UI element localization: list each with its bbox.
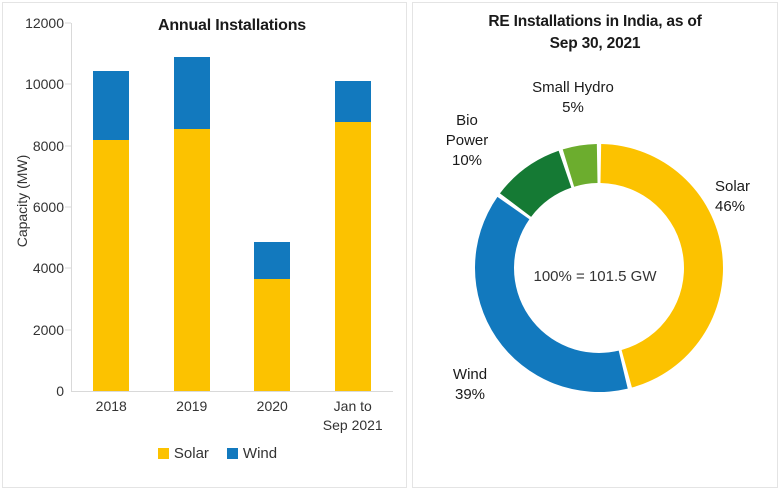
donut-label-bio-power: Bio Power 10%: [421, 111, 513, 171]
donut-slice-wind[interactable]: [475, 197, 628, 392]
bar-stack[interactable]: [335, 81, 371, 391]
x-tick-label-line: 2019: [146, 397, 238, 416]
donut-slice-solar[interactable]: [600, 144, 723, 388]
y-tick-mark: [65, 84, 71, 85]
x-tick-label-line: 2018: [65, 397, 157, 416]
legend-swatch-wind: [227, 448, 238, 459]
donut-chart-panel: RE Installations in India, as of Sep 30,…: [412, 2, 778, 488]
y-tick-label: 6000: [33, 199, 64, 215]
legend-swatch-solar: [158, 448, 169, 459]
bar-segment-wind[interactable]: [174, 57, 210, 129]
y-tick-label: 4000: [33, 260, 64, 276]
donut-label-wind: Wind 39%: [429, 365, 511, 405]
x-tick-label: 2019: [146, 397, 238, 416]
bar-plot-area: 020004000600080001000012000 201820192020…: [71, 23, 393, 392]
x-tick-label: 2020: [226, 397, 318, 416]
y-tick-label: 2000: [33, 322, 64, 338]
bar-stack[interactable]: [174, 57, 210, 391]
donut-graphic: [413, 3, 779, 489]
legend-item-wind[interactable]: Wind: [227, 445, 277, 462]
donut-svg: [413, 3, 779, 489]
donut-label-small-hydro: Small Hydro 5%: [505, 78, 641, 118]
y-axis-line: [71, 23, 72, 392]
y-tick-mark: [65, 329, 71, 330]
donut-center-annotation: 100% = 101.5 GW: [413, 268, 777, 285]
x-tick-label-line: 2020: [226, 397, 318, 416]
bar-segment-wind[interactable]: [93, 71, 129, 140]
bar-segment-solar[interactable]: [174, 129, 210, 391]
bar-stack[interactable]: [93, 71, 129, 391]
bar-stack[interactable]: [254, 242, 290, 391]
bar-chart-panel: Annual Installations Capacity (MW) 02000…: [2, 2, 407, 488]
y-tick-label: 12000: [25, 15, 64, 31]
bar-chart-legend: SolarWind: [3, 445, 406, 462]
y-tick-mark: [65, 145, 71, 146]
legend-label: Wind: [243, 445, 277, 462]
y-tick-label: 8000: [33, 138, 64, 154]
y-tick-label: 0: [56, 383, 64, 399]
donut-label-solar: Solar 46%: [715, 177, 780, 217]
x-axis-line: [71, 391, 393, 392]
y-tick-label: 10000: [25, 76, 64, 92]
bar-segment-wind[interactable]: [335, 81, 371, 122]
legend-label: Solar: [174, 445, 209, 462]
bar-segment-solar[interactable]: [335, 122, 371, 391]
figure-container: Annual Installations Capacity (MW) 02000…: [0, 0, 780, 490]
bar-segment-solar[interactable]: [254, 279, 290, 391]
y-tick-mark: [65, 207, 71, 208]
x-tick-label-line: Jan to: [307, 397, 399, 416]
x-tick-label: 2018: [65, 397, 157, 416]
bar-segment-solar[interactable]: [93, 140, 129, 391]
bar-segment-wind[interactable]: [254, 242, 290, 278]
x-tick-label: Jan toSep 2021: [307, 397, 399, 435]
x-tick-label-line: Sep 2021: [307, 416, 399, 435]
y-tick-mark: [65, 268, 71, 269]
legend-item-solar[interactable]: Solar: [158, 445, 209, 462]
y-tick-mark: [65, 23, 71, 24]
y-axis-title: Capacity (MW): [14, 126, 30, 276]
